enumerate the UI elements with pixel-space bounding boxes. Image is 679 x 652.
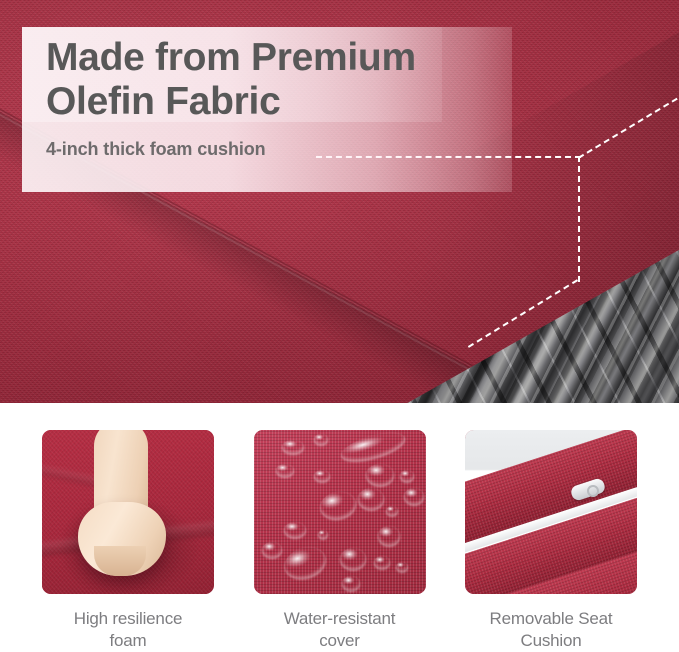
vertical-dashed-guide-icon <box>578 156 580 282</box>
water-drop <box>404 488 424 505</box>
headline-panel-text: Made from Premium Olefin Fabric 4-inch t… <box>46 36 516 160</box>
water-drop <box>276 464 294 477</box>
feature-caption-1: High resilience foam <box>74 608 183 652</box>
water-drop <box>366 464 394 486</box>
hero-headline: Made from Premium Olefin Fabric <box>46 36 516 124</box>
feature-thumbnail-2 <box>254 430 426 594</box>
water-drop <box>262 542 282 558</box>
feature-item-high-resilience-foam: High resilience foam <box>42 430 214 652</box>
feature-thumbnail-3 <box>465 430 637 594</box>
water-drop <box>314 434 328 445</box>
water-drop <box>386 506 398 516</box>
feature-strip: High resilience foam <box>0 403 679 652</box>
hero-section: Made from Premium Olefin Fabric 4-inch t… <box>0 0 679 403</box>
water-drop <box>400 470 414 482</box>
water-drop <box>318 530 328 539</box>
water-drop <box>342 576 360 591</box>
feature-item-water-resistant-cover: Water-resistant cover <box>254 430 426 652</box>
feature-caption-2: Water-resistant cover <box>284 608 396 652</box>
product-feature-image: Made from Premium Olefin Fabric 4-inch t… <box>0 0 679 652</box>
water-drop <box>374 556 390 569</box>
feature-item-removable-seat-cushion: Removable Seat Cushion <box>465 430 637 652</box>
water-drop <box>314 470 330 482</box>
water-drop <box>282 440 304 454</box>
water-drop <box>396 562 408 572</box>
hero-subline: 4-inch thick foam cushion <box>46 138 516 160</box>
water-drop <box>340 548 366 570</box>
water-drop <box>284 522 306 538</box>
feature-thumbnail-1 <box>42 430 214 594</box>
feature-caption-3: Removable Seat Cushion <box>490 608 613 652</box>
water-drop <box>358 488 384 510</box>
water-drop <box>378 526 400 546</box>
